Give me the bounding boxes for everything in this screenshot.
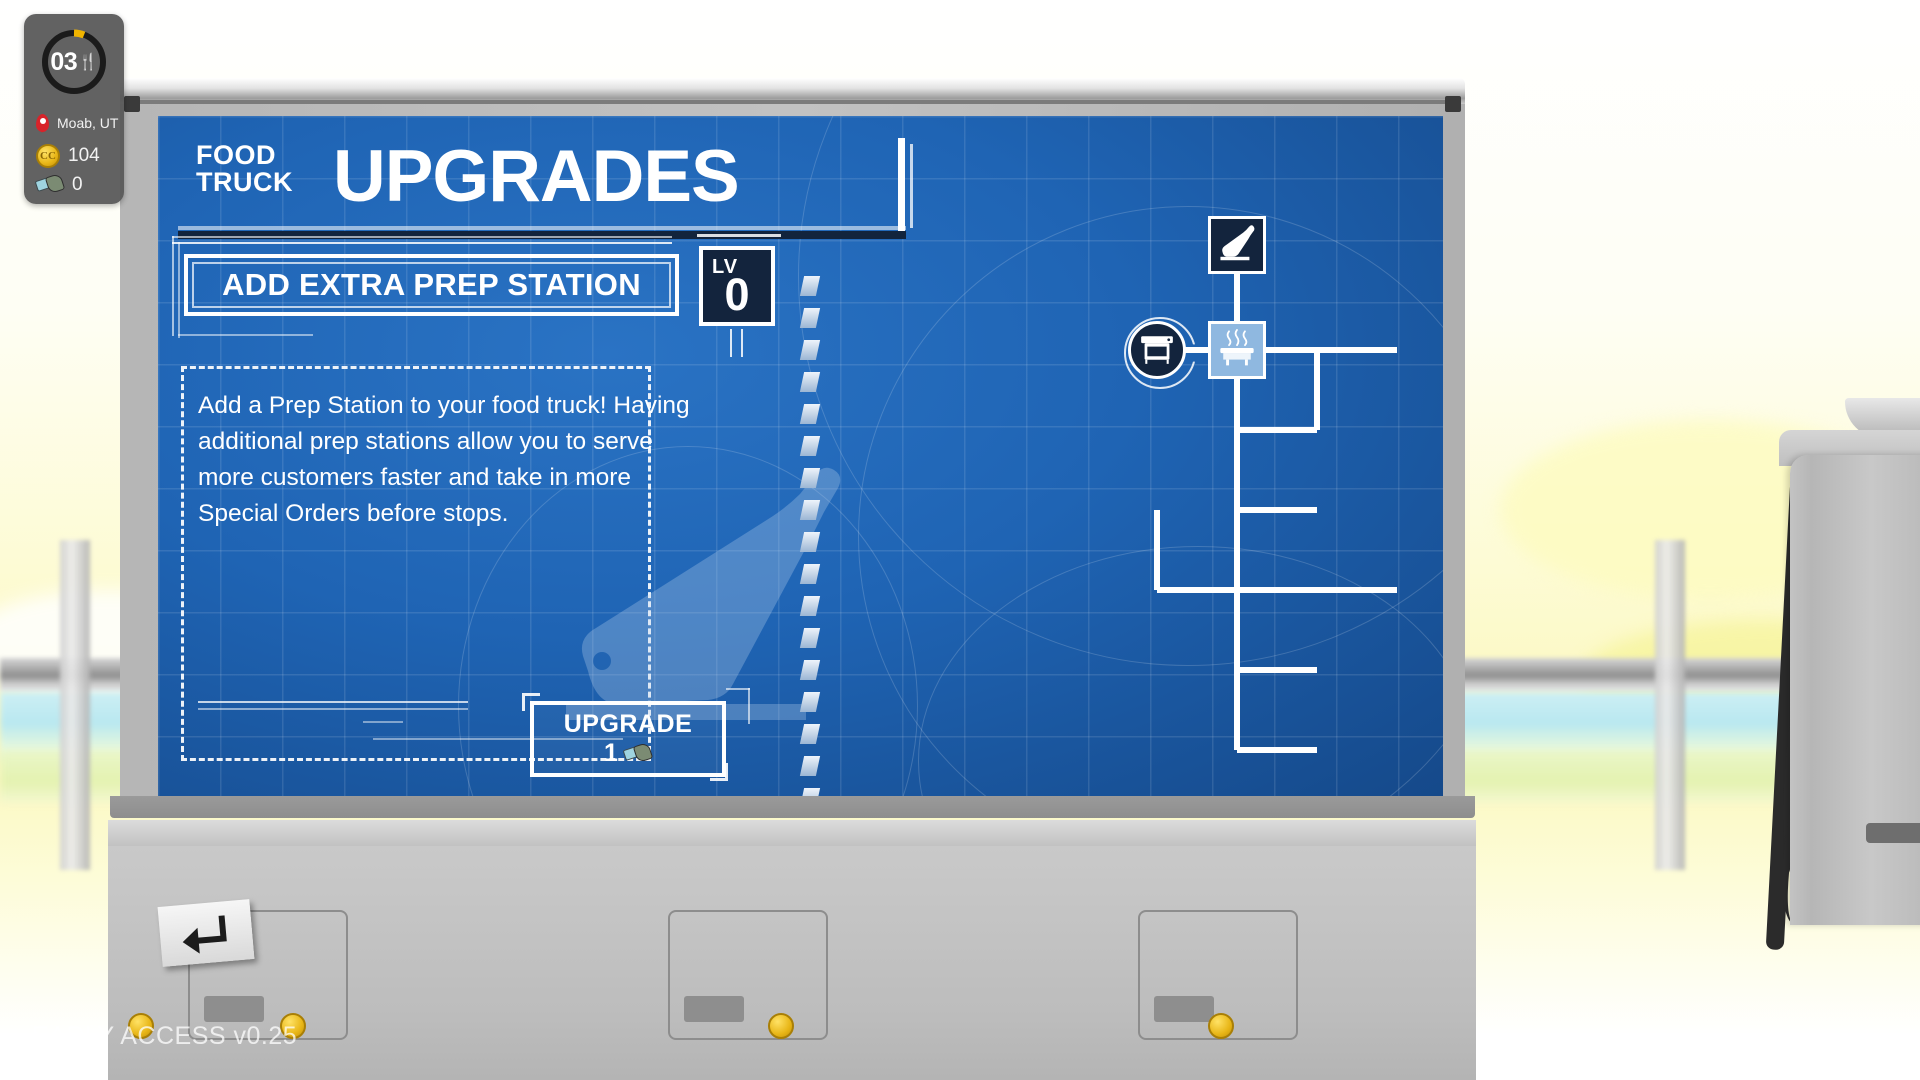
upgrades-whiteboard: FOOD TRUCK UPGRADES ADD EXTRA PREP STATI… (120, 78, 1465, 820)
nameplate-guide-line (172, 242, 672, 244)
cleaver-icon (1217, 223, 1257, 268)
tree-link (1237, 427, 1317, 433)
drawer-pull (684, 996, 744, 1022)
window-mullion (60, 540, 90, 870)
upgrade-cost-value: 1 (604, 739, 618, 768)
drawer-pull (204, 996, 264, 1022)
upgrade-description: Add a Prep Station to your food truck! H… (198, 388, 710, 532)
nameplate-guide-line (178, 242, 180, 338)
tree-link (1237, 507, 1317, 513)
hud-location-row: Moab, UT (36, 114, 118, 132)
tree-link (1234, 590, 1240, 670)
page-title: FOOD TRUCK UPGRADES (178, 138, 908, 226)
griddle-icon (1216, 327, 1258, 374)
tree-link (1237, 747, 1317, 753)
description-guide-line (198, 701, 468, 703)
tree-node-n2[interactable] (1128, 321, 1186, 379)
map-pin-icon (36, 114, 49, 132)
upgrade-name: ADD EXTRA PREP STATION (188, 258, 675, 312)
upgrade-button-cost: 1 (604, 739, 652, 768)
upgrade-name-plate: ADD EXTRA PREP STATION (184, 254, 679, 316)
description-guide-line (363, 721, 403, 723)
tree-link (1317, 587, 1397, 593)
page-title-main: UPGRADES (333, 138, 739, 216)
back-button[interactable] (158, 899, 255, 967)
page-title-line2: TRUCK (196, 169, 293, 196)
tree-link (1314, 350, 1320, 430)
day-counter-value: 03 (50, 48, 77, 77)
blueprint-divider (802, 276, 820, 796)
upgrade-button-label: UPGRADE (564, 710, 693, 739)
hud-coins-row: CC 104 (36, 144, 100, 168)
upgrade-token-icon (36, 175, 64, 195)
counter-body (108, 846, 1476, 1080)
tree-link (1234, 670, 1240, 750)
level-leader-line (741, 329, 743, 357)
tree-node-tile[interactable] (1208, 216, 1266, 274)
board-top-rail (126, 100, 1459, 104)
hud-tools-row: 0 (36, 174, 83, 196)
day-counter: 03 🍴 (40, 28, 108, 96)
drawer-pull (1154, 996, 1214, 1022)
tree-node-tile[interactable] (1208, 321, 1266, 379)
description-guide-line (198, 708, 468, 710)
tree-node-tile[interactable] (1128, 321, 1186, 379)
level-tick (697, 234, 781, 237)
tree-link (1157, 587, 1237, 593)
day-progress-ring: 03 🍴 (40, 28, 108, 96)
level-leader-line (730, 329, 732, 357)
blueprint-surface: FOOD TRUCK UPGRADES ADD EXTRA PREP STATI… (158, 116, 1443, 796)
coin-icon: CC (36, 144, 60, 168)
tree-link (1234, 430, 1240, 510)
nameplate-guide-line (172, 236, 672, 238)
page-title-small: FOOD TRUCK (196, 142, 293, 196)
board-clip-left (124, 96, 140, 112)
utensils-icon: 🍴 (78, 52, 97, 72)
title-bracket-thin (910, 144, 913, 228)
counter-drawer (668, 910, 828, 1040)
title-bracket (898, 138, 905, 233)
counter-lip (108, 820, 1476, 846)
hud-panel: 03 🍴 Moab, UT CC 104 0 (24, 14, 124, 204)
counter-coin (1208, 1013, 1234, 1039)
tool-count: 0 (72, 174, 83, 196)
tree-node-n1[interactable] (1208, 216, 1266, 274)
tree-link (1154, 510, 1160, 590)
tree-link (1237, 667, 1317, 673)
nameplate-guide-line (178, 334, 313, 336)
upgrade-button-leader (726, 688, 750, 690)
upgrade-level-box: LV 0 (699, 246, 775, 326)
back-arrow-icon (178, 911, 233, 955)
nameplate-guide-line (172, 236, 174, 336)
title-rule-light (178, 226, 906, 230)
location-label: Moab, UT (57, 115, 118, 131)
board-bottom-lip (110, 796, 1475, 818)
tree-node-n3[interactable] (1208, 321, 1266, 379)
window-mullion (1655, 540, 1685, 870)
upgrade-button[interactable]: UPGRADE 1 (530, 701, 726, 777)
truck-cabinet (1790, 455, 1920, 925)
counter-coin (768, 1013, 794, 1039)
upgrade-token-icon (624, 744, 652, 764)
page-title-line1: FOOD (196, 142, 293, 169)
early-access-label: EARLY ACCESS v0.25 (32, 1022, 297, 1051)
tree-link (1237, 587, 1317, 593)
upgrade-skill-tree (928, 186, 1428, 786)
truck-counter (108, 820, 1476, 1080)
truck-cabinet-handle (1866, 823, 1920, 843)
level-value: 0 (703, 272, 771, 317)
oven-icon (1137, 328, 1177, 373)
coin-count: 104 (68, 145, 100, 167)
upgrade-button-leader (748, 688, 750, 724)
board-clip-right (1445, 96, 1461, 112)
tree-link (1234, 510, 1240, 590)
tree-link (1317, 347, 1397, 353)
